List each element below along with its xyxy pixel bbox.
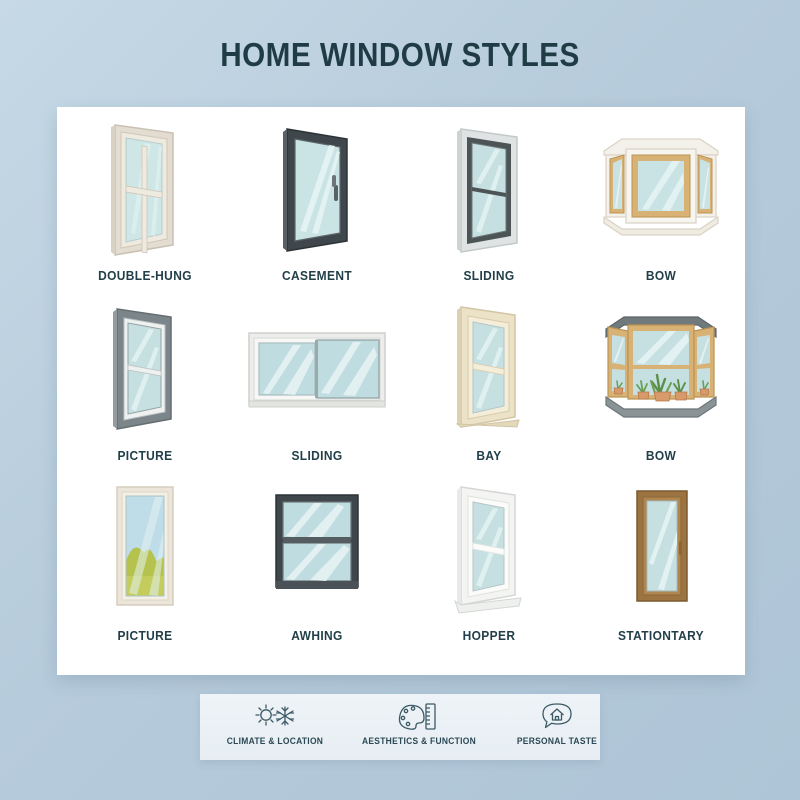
window-grid: DOUBLE-HUNG: [57, 107, 745, 675]
window-card-double-hung[interactable]: DOUBLE-HUNG: [59, 113, 231, 291]
window-card-awning[interactable]: AWHING: [231, 473, 403, 651]
palette-ruler-icon: [344, 699, 494, 733]
picture-window-icon: [59, 293, 231, 443]
footer-item-aesthetics[interactable]: AESTHETICS & FUNCTION: [344, 694, 494, 760]
bow-window-plants-icon: [575, 293, 747, 443]
window-card-sliding-1[interactable]: SLIDING: [403, 113, 575, 291]
sliding-window-icon: [231, 293, 403, 443]
window-card-sliding-2[interactable]: SLIDING: [231, 293, 403, 471]
window-label: DOUBLE-HUNG: [66, 268, 224, 283]
footer-item-label: AESTHETICS & FUNCTION: [349, 736, 490, 746]
window-card-hopper[interactable]: HOPPER: [403, 473, 575, 651]
speech-bubble-house-icon: [498, 699, 616, 733]
window-styles-card: DOUBLE-HUNG: [57, 107, 745, 675]
window-card-picture-2[interactable]: PICTURE: [59, 473, 231, 651]
window-card-picture-1[interactable]: PICTURE: [59, 293, 231, 471]
footer-item-climate[interactable]: CLIMATE & LOCATION: [210, 694, 340, 760]
window-label: PICTURE: [66, 448, 224, 463]
hopper-window-icon: [403, 473, 575, 623]
bow-window-icon: [575, 113, 747, 263]
window-label: SLIDING: [410, 268, 568, 283]
window-card-casement[interactable]: CASEMENT: [231, 113, 403, 291]
considerations-bar: CLIMATE & LOCATION AESTHETICS & FUNCTI: [200, 694, 600, 760]
casement-window-icon: [231, 113, 403, 263]
window-card-stationary[interactable]: STATIONTARY: [575, 473, 747, 651]
page-title: HOME WINDOW STYLES: [40, 36, 760, 74]
window-label: PICTURE: [66, 628, 224, 643]
window-label: BOW: [582, 268, 740, 283]
window-label: STATIONTARY: [582, 628, 740, 643]
window-label: HOPPER: [410, 628, 568, 643]
footer-item-label: CLIMATE & LOCATION: [214, 736, 336, 746]
footer-item-label: PERSONAL TASTE: [502, 736, 613, 746]
sun-snowflake-icon: [210, 699, 340, 733]
footer-item-taste[interactable]: PERSONAL TASTE: [498, 694, 616, 760]
window-card-bow-1[interactable]: BOW: [575, 113, 747, 291]
stationary-window-icon: [575, 473, 747, 623]
double-hung-window-icon: [59, 113, 231, 263]
window-label: CASEMENT: [238, 268, 396, 283]
window-card-bay[interactable]: BAY: [403, 293, 575, 471]
window-card-bow-2[interactable]: BOW: [575, 293, 747, 471]
window-label: SLIDING: [238, 448, 396, 463]
sliding-window-icon: [403, 113, 575, 263]
window-label: BAY: [410, 448, 568, 463]
awning-window-icon: [231, 473, 403, 623]
bay-window-icon: [403, 293, 575, 443]
infographic-canvas: HOME WINDOW STYLES: [0, 0, 800, 800]
window-label: BOW: [582, 448, 740, 463]
picture-window-scene-icon: [59, 473, 231, 623]
window-label: AWHING: [238, 628, 396, 643]
